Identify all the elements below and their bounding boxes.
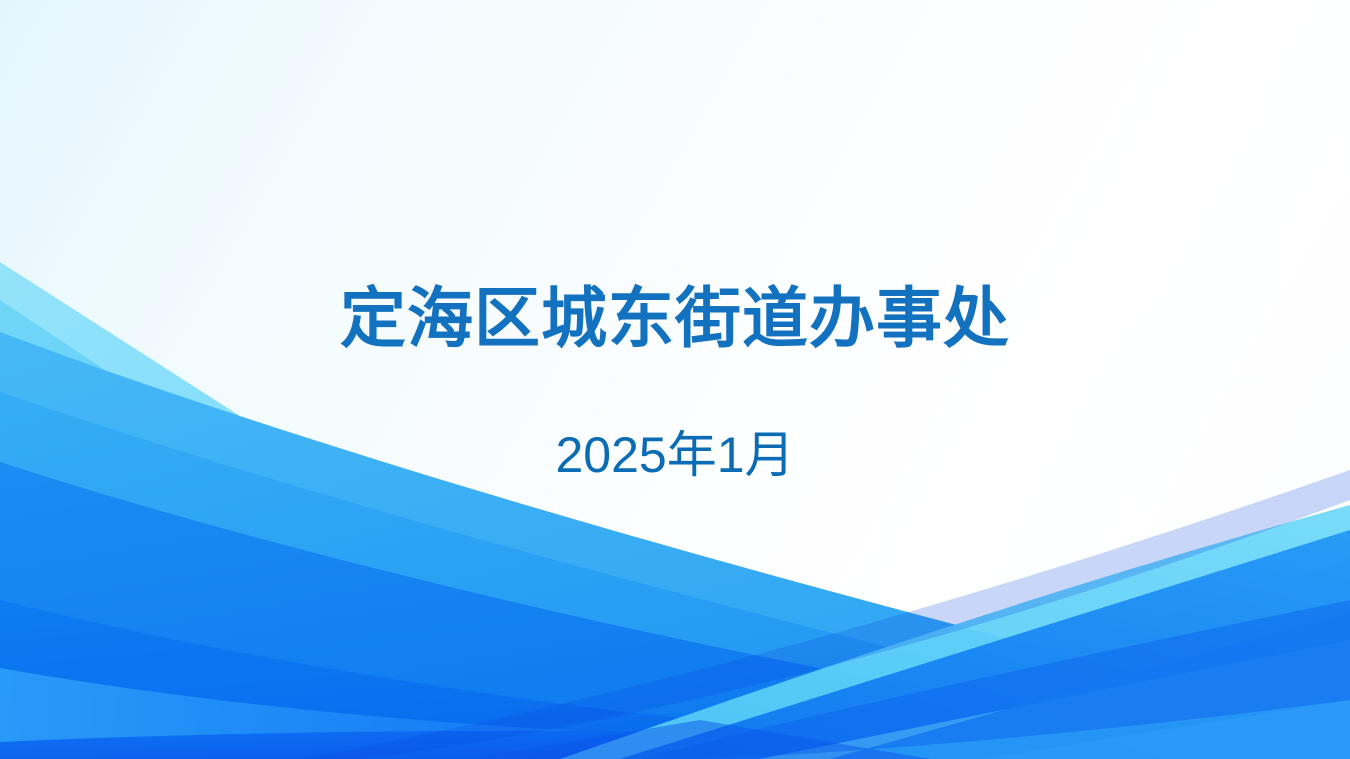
background-wave-graphic	[0, 0, 1350, 759]
title-slide: 定海区城东街道办事处 2025年1月	[0, 0, 1350, 759]
